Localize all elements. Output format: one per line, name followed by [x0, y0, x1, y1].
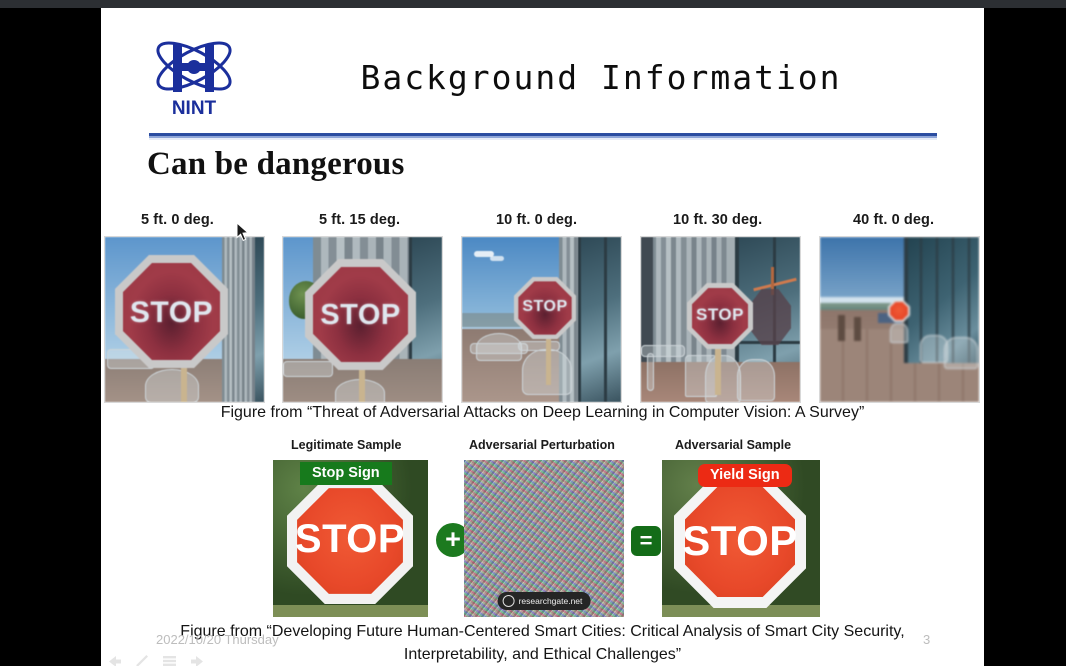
photo-stopsign-40ft-0deg — [819, 236, 980, 403]
presenter-toolbar[interactable] — [107, 654, 205, 666]
adv-sign-text: STOP — [674, 517, 806, 565]
photo1-sign-text: STOP — [115, 296, 228, 330]
researchgate-watermark: researchgate.net — [498, 592, 591, 610]
figure-adversarial-perturbation: researchgate.net — [464, 460, 624, 617]
photo-label-3: 10 ft. 0 deg. — [496, 212, 577, 228]
figure-adversarial-sample: STOP Yield Sign — [662, 460, 820, 617]
figure-label-perturbation: Adversarial Perturbation — [469, 438, 615, 452]
globe-icon — [503, 595, 515, 607]
slide-menu-icon[interactable] — [162, 655, 177, 666]
equals-operator: = — [631, 526, 661, 556]
photo-label-5: 40 ft. 0 deg. — [853, 212, 934, 228]
pen-icon[interactable] — [135, 654, 149, 666]
legit-sign-text: STOP — [287, 517, 413, 562]
slide-canvas: NINT Background Information Can be dange… — [101, 8, 984, 666]
legit-badge: Stop Sign — [300, 462, 392, 485]
logo-text: NINT — [172, 98, 217, 119]
footer-date: 2022/10/20 Thursday — [156, 632, 279, 647]
photo2-sign-text: STOP — [305, 299, 416, 332]
figure-label-adversarial: Adversarial Sample — [675, 438, 791, 452]
figure-label-legitimate: Legitimate Sample — [291, 438, 401, 452]
photo3-sign-text: STOP — [514, 298, 576, 316]
photo-label-2: 5 ft. 15 deg. — [319, 212, 400, 228]
next-slide-icon[interactable] — [190, 655, 205, 666]
photo-label-1: 5 ft. 0 deg. — [141, 212, 214, 228]
photo-stopsign-10ft-0deg: STOP — [461, 236, 622, 403]
slide-subtitle: Can be dangerous — [147, 146, 404, 183]
photo4-sign-text: STOP — [687, 305, 753, 325]
previous-slide-icon[interactable] — [107, 655, 122, 666]
adversarial-badge: Yield Sign — [698, 464, 792, 487]
watermark-text: researchgate.net — [519, 596, 583, 606]
photo-label-4: 10 ft. 30 deg. — [673, 212, 762, 228]
figure-legitimate-sample: STOP Stop Sign — [273, 460, 428, 617]
photo-stopsign-10ft-30deg: STOP — [640, 236, 801, 403]
nint-logo: NINT — [149, 36, 241, 120]
mouse-cursor — [236, 222, 250, 247]
figure-caption-line2: Interpretability, and Ethical Challenges… — [101, 646, 984, 664]
photo-stopsign-5ft-0deg: STOP — [104, 236, 265, 403]
window-top-strip — [0, 0, 1066, 8]
photo-strip-caption: Figure from “Threat of Adversarial Attac… — [101, 404, 984, 422]
title-rule — [149, 134, 937, 140]
presentation-window: NINT Background Information Can be dange… — [0, 0, 1066, 666]
slide-title: Background Information — [251, 58, 951, 97]
photo-stopsign-5ft-15deg: STOP — [282, 236, 443, 403]
slide-page-number: 3 — [923, 632, 930, 647]
